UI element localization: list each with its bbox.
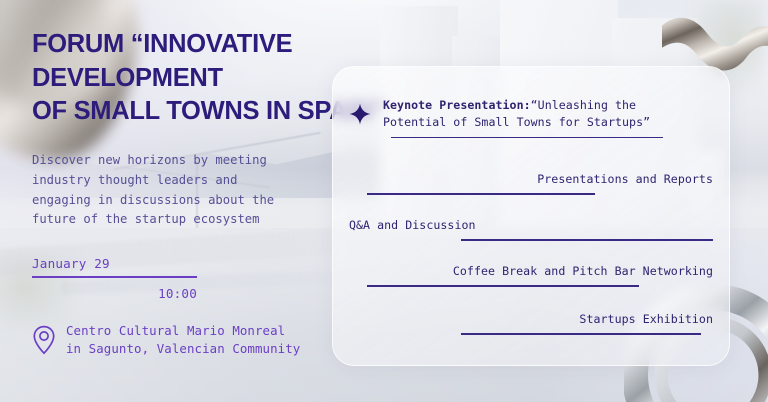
agenda-list: Keynote Presentation:“Unleashing the Pot… bbox=[333, 67, 729, 365]
event-time: 10:00 bbox=[32, 286, 197, 301]
agenda-divider bbox=[367, 193, 595, 195]
sparkle-icon bbox=[349, 103, 371, 125]
agenda-item-keynote[interactable]: Keynote Presentation:“Unleashing the Pot… bbox=[333, 97, 729, 138]
venue-line-1: Centro Cultural Mario Monreal bbox=[66, 322, 300, 340]
venue-address: Centro Cultural Mario Monreal in Sagunto… bbox=[66, 322, 300, 359]
agenda-divider bbox=[391, 137, 663, 139]
agenda-item-startups-exhibition[interactable]: Startups Exhibition bbox=[333, 311, 729, 335]
agenda-divider bbox=[461, 333, 701, 335]
agenda-item-label: Q&A and Discussion bbox=[349, 217, 713, 234]
agenda-item-label-bold: Keynote Presentation: bbox=[383, 98, 531, 112]
agenda-divider bbox=[461, 239, 713, 241]
location-pin-icon bbox=[32, 325, 56, 355]
agenda-item-qa[interactable]: Q&A and Discussion bbox=[333, 217, 729, 241]
poster-subheading: Discover new horizons by meeting industr… bbox=[32, 151, 294, 230]
date-divider bbox=[32, 276, 197, 278]
event-poster: FORUM “INNOVATIVE DEVELOPMENT OF SMALL T… bbox=[0, 0, 768, 402]
agenda-divider bbox=[367, 285, 639, 287]
agenda-card: Keynote Presentation:“Unleashing the Pot… bbox=[332, 66, 730, 366]
agenda-item-label: Keynote Presentation:“Unleashing the Pot… bbox=[383, 97, 650, 132]
agenda-item-label: Presentations and Reports bbox=[349, 171, 713, 188]
venue-block: Centro Cultural Mario Monreal in Sagunto… bbox=[32, 322, 300, 359]
venue-line-2: in Sagunto, Valencian Community bbox=[66, 340, 300, 358]
agenda-item-label: Coffee Break and Pitch Bar Networking bbox=[349, 263, 713, 280]
date-time-block: January 29 10:00 bbox=[32, 256, 197, 301]
agenda-item-coffee-break[interactable]: Coffee Break and Pitch Bar Networking bbox=[333, 263, 729, 287]
event-date: January 29 bbox=[32, 256, 197, 271]
headline-line-1: FORUM “INNOVATIVE DEVELOPMENT bbox=[32, 30, 292, 92]
agenda-item-presentations[interactable]: Presentations and Reports bbox=[333, 171, 729, 195]
agenda-item-label: Startups Exhibition bbox=[349, 311, 713, 328]
